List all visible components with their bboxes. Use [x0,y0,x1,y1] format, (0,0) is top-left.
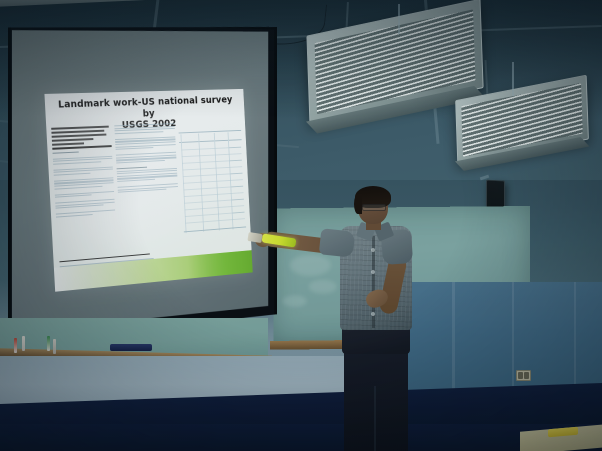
classroom-presentation-scene: Landmark work-US national survey by USGS… [0,0,602,451]
gray-marker [53,339,56,354]
white-marker [22,336,25,351]
wall-seam [574,282,576,398]
document-left-column [51,126,117,258]
outlet-socket [518,372,523,379]
red-marker [14,338,17,353]
green-marker [47,336,50,351]
fixture-hanger [398,4,400,34]
projection-screen: Landmark work-US national survey by USGS… [8,16,272,338]
board-eraser [110,344,152,351]
wall-seam [512,282,514,402]
document-middle-column [114,123,181,252]
presenter-hair-side [354,194,362,214]
outlet-socket [524,372,529,379]
presenter-sleeve-right [319,228,356,257]
leg-separation [374,386,376,451]
document-right-column [178,121,247,247]
presenter-legs [344,348,408,451]
presenter-glasses [362,204,386,211]
slide-data-table [178,126,246,241]
fixture-hanger [512,62,514,96]
power-outlet [516,370,531,381]
presenter [300,186,440,451]
projected-slide: Landmark work-US national survey by USGS… [44,89,252,292]
slide-document-body [51,121,247,258]
